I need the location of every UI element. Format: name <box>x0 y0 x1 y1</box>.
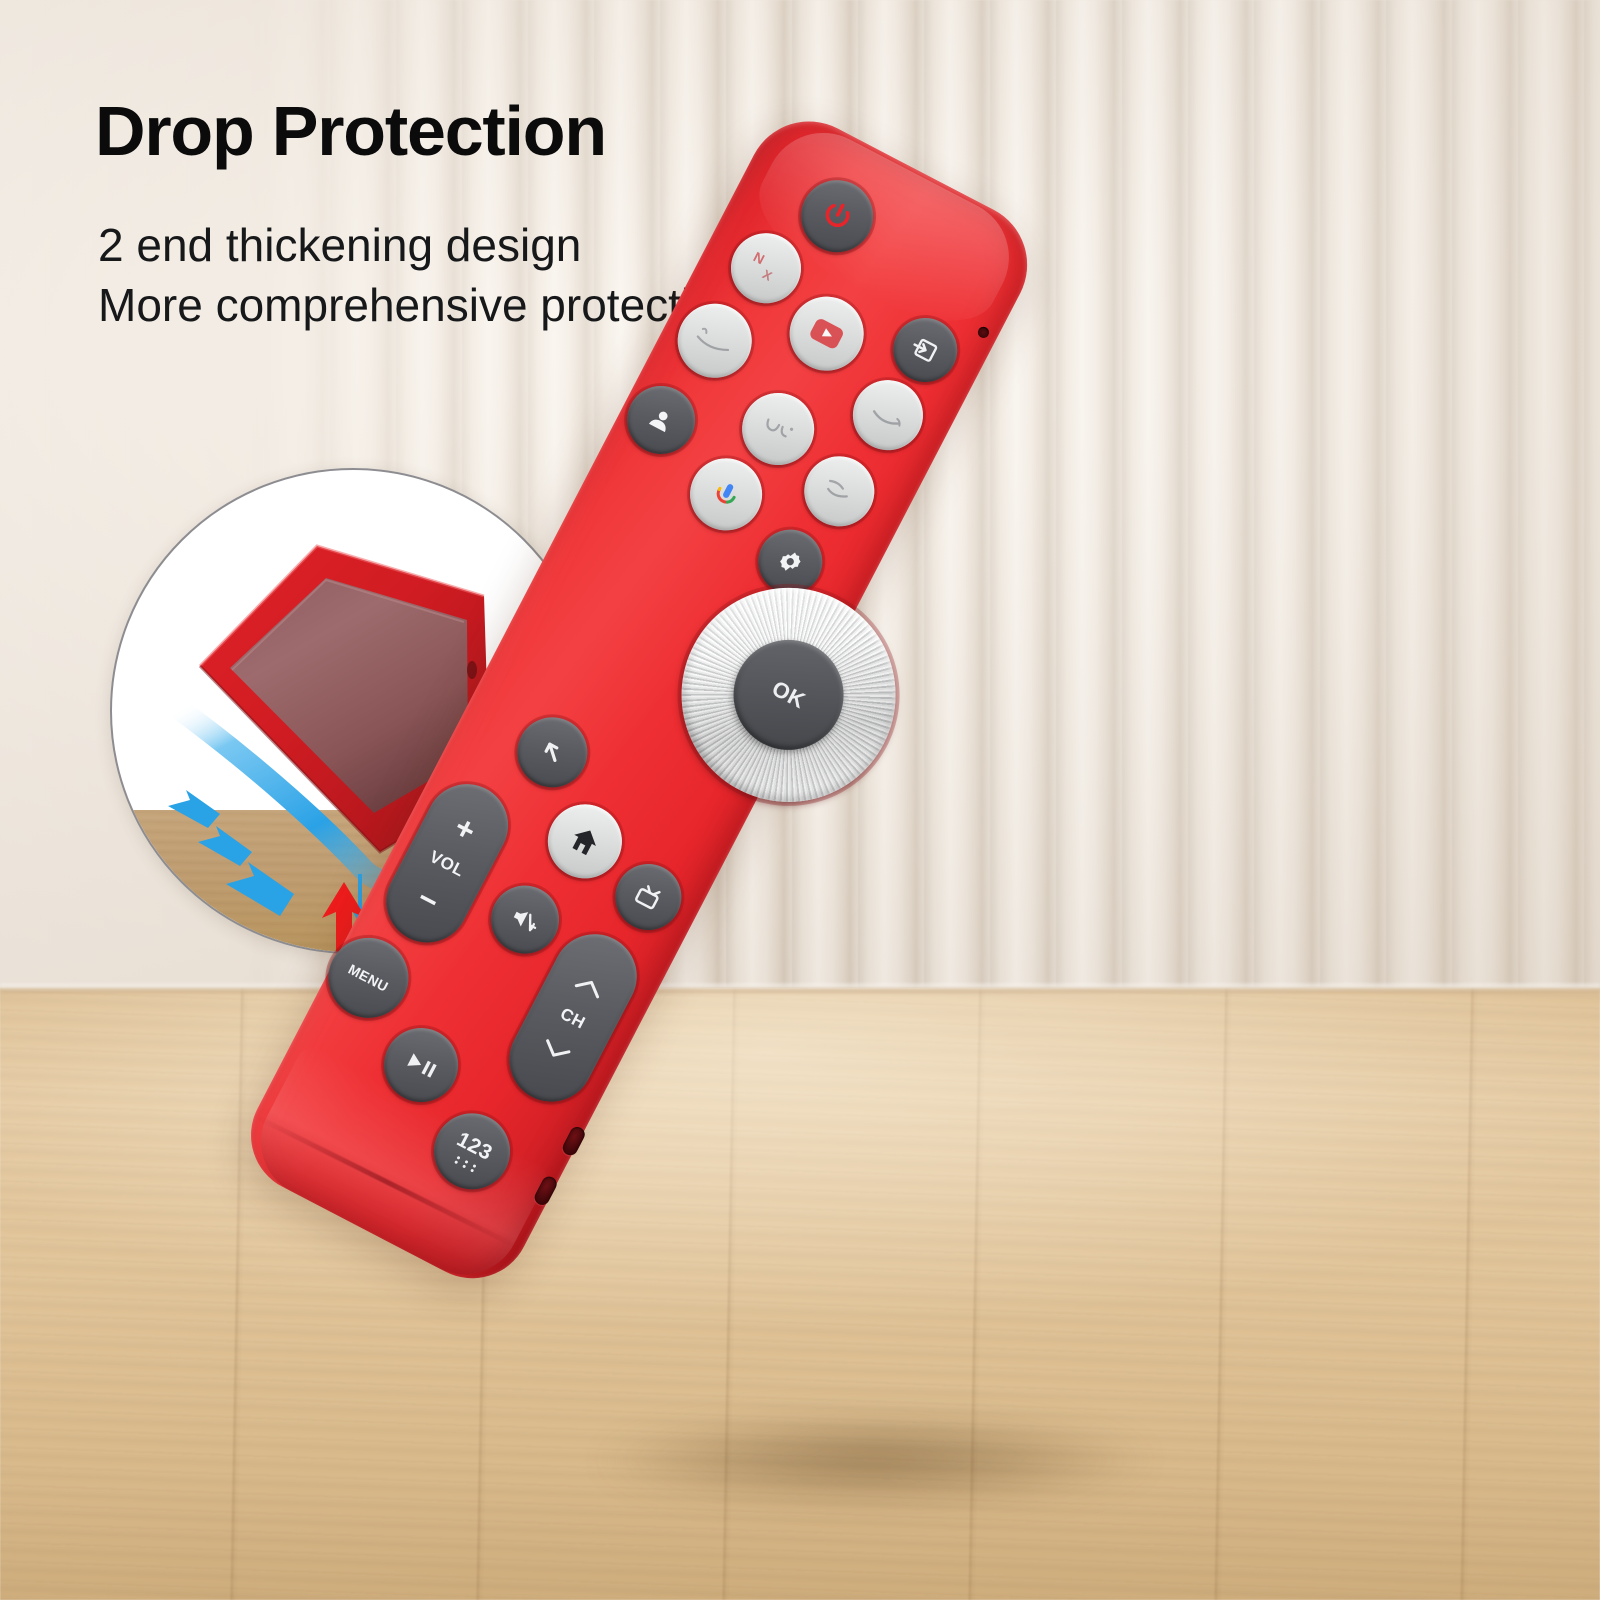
menu-button[interactable]: MENU <box>314 924 422 1032</box>
back-button[interactable] <box>505 705 599 799</box>
ir-led-indicator <box>976 325 991 340</box>
app-youtube-button[interactable] <box>777 284 877 384</box>
person-icon <box>641 400 681 440</box>
tv-icon <box>628 877 668 917</box>
volume-up-icon[interactable]: + <box>450 810 481 847</box>
remote-drop-shadow <box>515 1400 1235 1520</box>
power-icon <box>814 193 860 239</box>
play-pause-icon <box>401 1047 441 1082</box>
page-title: Drop Protection <box>95 96 606 166</box>
google-assistant-mic-icon <box>703 471 749 517</box>
netflix-icon: N X <box>740 244 791 293</box>
profile-button[interactable] <box>615 374 707 466</box>
ok-label: OK <box>767 676 809 715</box>
volume-down-icon[interactable]: − <box>413 881 444 918</box>
channel-up-icon[interactable] <box>570 970 609 1003</box>
back-arrow-icon <box>531 731 574 774</box>
mute-icon <box>504 899 546 940</box>
app-netflix-button[interactable]: N X <box>719 221 813 315</box>
product-marketing-scene: Drop Protection 2 end thickening design … <box>0 0 1600 1600</box>
menu-label: MENU <box>346 961 391 995</box>
volume-label: VOL <box>426 847 468 882</box>
gear-icon <box>771 543 809 581</box>
subheading-one: 2 end thickening design <box>98 222 581 268</box>
home-button[interactable] <box>535 792 635 892</box>
app-store-button[interactable] <box>792 444 886 538</box>
app-store-icon <box>816 471 862 512</box>
play-pause-button[interactable] <box>371 1015 471 1115</box>
svg-text:X: X <box>760 267 775 284</box>
app-shortcut-icon <box>754 407 802 450</box>
tv-guide-button[interactable] <box>604 853 693 942</box>
channel-label: CH <box>557 1004 589 1034</box>
prime-video-icon <box>865 395 911 436</box>
home-icon <box>562 818 608 864</box>
svg-text:N: N <box>751 248 767 267</box>
mute-button[interactable] <box>479 874 571 966</box>
disney-plus-icon <box>690 319 740 363</box>
youtube-icon <box>802 312 850 355</box>
channel-down-icon[interactable] <box>536 1034 575 1067</box>
app-disney-button[interactable] <box>665 291 765 391</box>
power-button[interactable] <box>789 168 886 265</box>
input-source-icon <box>905 330 945 370</box>
keypad-button[interactable]: 123 <box>421 1100 524 1203</box>
